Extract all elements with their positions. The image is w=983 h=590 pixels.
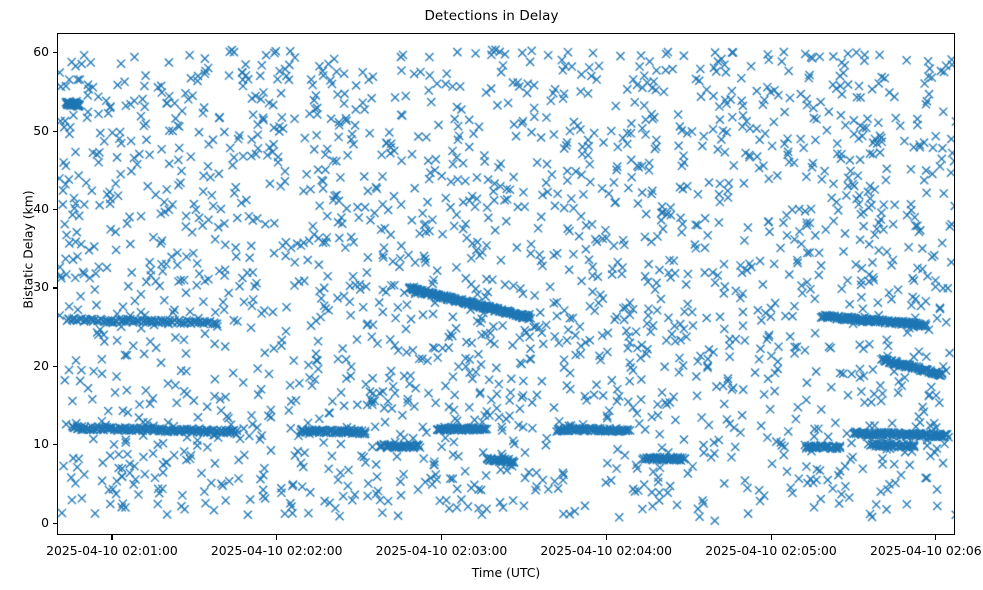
y-tick-label: 10 — [0, 436, 49, 451]
x-tick-mark — [771, 535, 772, 540]
page-title: Detections in Delay — [0, 8, 983, 24]
x-tick-mark — [606, 535, 607, 540]
x-tick-mark — [935, 535, 936, 540]
x-tick-mark — [276, 535, 277, 540]
x-tick-label: 2025-04-10 02:02:00 — [187, 543, 367, 558]
y-tick-label: 0 — [0, 515, 49, 530]
x-tick-label: 2025-04-10 02:03:00 — [351, 543, 531, 558]
x-tick-label: 2025-04-10 02:01:00 — [22, 543, 202, 558]
y-tick-label: 60 — [0, 44, 49, 59]
y-tick-label: 30 — [0, 279, 49, 294]
plot-area — [57, 33, 955, 535]
x-axis-label: Time (UTC) — [57, 565, 955, 580]
x-tick-label: 2025-04-10 02:06:00 — [846, 543, 983, 558]
scatter-plot-points — [58, 34, 955, 535]
x-tick-label: 2025-04-10 02:05:00 — [681, 543, 861, 558]
x-tick-mark — [111, 535, 112, 540]
figure-canvas: Detections in Delay Bistatic Delay (km) … — [0, 0, 983, 590]
x-tick-label: 2025-04-10 02:04:00 — [516, 543, 696, 558]
y-tick-label: 40 — [0, 201, 49, 216]
y-tick-label: 20 — [0, 358, 49, 373]
y-axis-label: Bistatic Delay (km) — [21, 100, 36, 400]
x-tick-mark — [441, 535, 442, 540]
y-tick-label: 50 — [0, 123, 49, 138]
